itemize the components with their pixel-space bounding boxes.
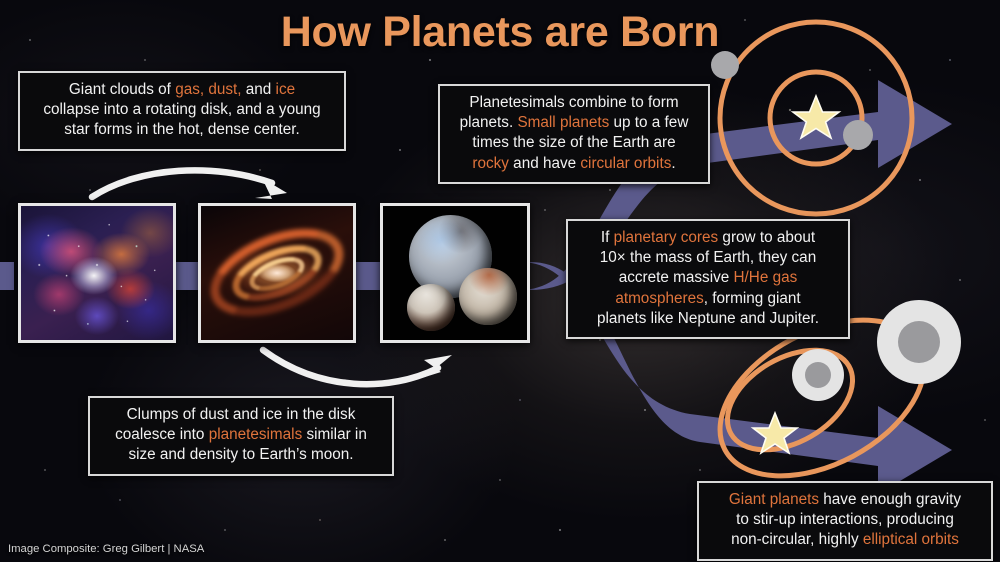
callout-dust-clumps: Clumps of dust and ice in the disk coale… (88, 396, 394, 476)
giant-line2: to stir-up interactions, producing (736, 511, 954, 528)
cores-highlight-planetary-cores: planetary cores (614, 229, 719, 246)
combine-line4-b: . (671, 155, 675, 172)
clouds-highlight-ice: ice (276, 81, 296, 98)
planetesimal-small (407, 284, 455, 331)
cores-line3-a: accrete massive (619, 269, 734, 286)
cores-highlight-hhe-gas: H/He gas (734, 269, 798, 286)
clumps-line2-b: similar in (302, 426, 367, 443)
clouds-line1-b: and (242, 81, 276, 98)
cores-line4-b: , forming giant (704, 290, 801, 307)
callout-giant-planets: Giant planets have enough gravity to sti… (697, 481, 993, 561)
infographic-canvas: How Planets are Born Giant clouds of gas… (0, 0, 1000, 562)
giant-highlight-giant-planets: Giant planets (729, 491, 819, 508)
clumps-line2-a: coalesce into (115, 426, 209, 443)
giant-highlight-elliptical-orbits: elliptical orbits (863, 531, 959, 548)
cores-highlight-atmospheres: atmospheres (615, 290, 703, 307)
clouds-highlight-gas-dust: gas, dust, (175, 81, 241, 98)
clumps-line1: Clumps of dust and ice in the disk (127, 406, 356, 423)
cores-line2: 10× the mass of Earth, they can (600, 249, 816, 266)
combine-line1: Planetesimals combine to form (469, 94, 678, 111)
giant-line3-a: non-circular, highly (731, 531, 863, 548)
photo-molecular-cloud-nebula (18, 203, 176, 343)
planetesimals-image (383, 206, 527, 340)
combine-highlight-rocky: rocky (472, 155, 509, 172)
photo-planetesimal-bodies (380, 203, 530, 343)
callout-planetesimals-combine: Planetesimals combine to form planets. S… (438, 84, 710, 184)
clouds-line1-a: Giant clouds of (69, 81, 175, 98)
page-title: How Planets are Born (0, 8, 1000, 57)
nebula-stars (21, 206, 173, 340)
combine-highlight-circular-orbits: circular orbits (580, 155, 671, 172)
callout-giant-clouds: Giant clouds of gas, dust, and ice colla… (18, 71, 346, 151)
clumps-highlight-planetesimals: planetesimals (209, 426, 303, 443)
clumps-line3: size and density to Earth’s moon. (128, 446, 353, 463)
combine-line2-a: planets. (460, 114, 518, 131)
combine-line3: times the size of the Earth are (472, 134, 675, 151)
combine-highlight-small-planets: Small planets (517, 114, 609, 131)
photo-protoplanetary-disk (198, 203, 356, 343)
cores-line5: planets like Neptune and Jupiter. (597, 310, 819, 327)
disk-image (201, 206, 353, 340)
cores-line1-b: grow to about (718, 229, 815, 246)
clouds-line3: star forms in the hot, dense center. (64, 121, 300, 138)
clouds-line2: collapse into a rotating disk, and a you… (43, 101, 320, 118)
combine-line4-a: and have (509, 155, 580, 172)
planetesimal-medium (459, 268, 517, 326)
image-credit: Image Composite: Greg Gilbert | NASA (8, 543, 204, 555)
combine-line2-b: up to a few (609, 114, 688, 131)
cores-line1-a: If (601, 229, 614, 246)
white-arrow-disk-to-bodies (263, 350, 438, 384)
white-arrow-nebula-to-disk (92, 170, 272, 197)
callout-planetary-cores: If planetary cores grow to about 10× the… (566, 219, 850, 339)
giant-line1-b: have enough gravity (819, 491, 961, 508)
